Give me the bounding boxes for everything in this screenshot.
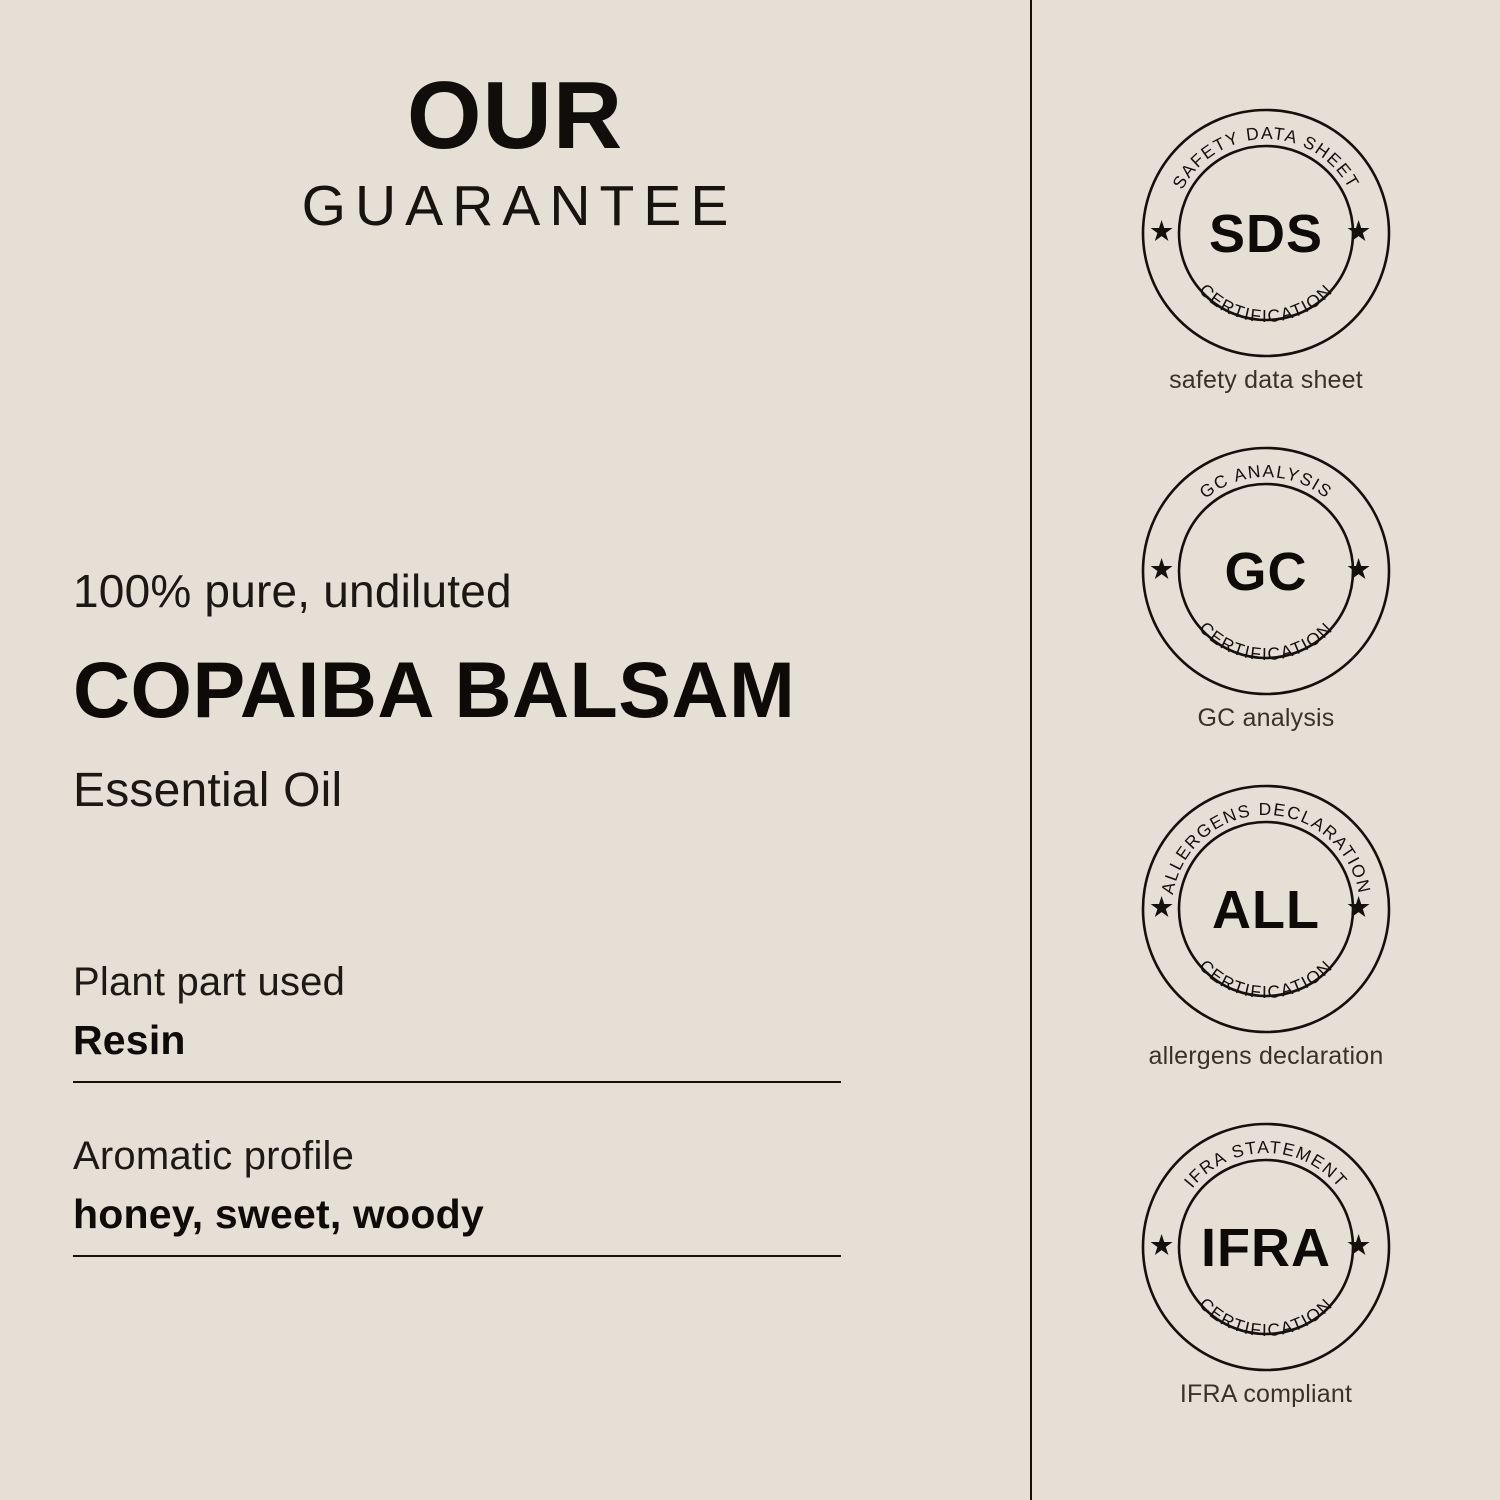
spec-label: Aromatic profile (73, 1136, 841, 1176)
spec-field-aromatic-profile: Aromatic profile honey, sweet, woody (73, 1136, 841, 1257)
spec-value: Resin (73, 1020, 841, 1061)
certification-badge-ifra: IFRA STATEMENT CERTIFICATION IFRA IFRA c… (1032, 1122, 1500, 1407)
seal-arc-bottom-text: CERTIFICATION (1195, 956, 1336, 1003)
seal-arc-bottom-label: CERTIFICATION (1195, 1294, 1336, 1341)
seal-arc-bottom-text: CERTIFICATION (1195, 280, 1336, 327)
seal-arc-bottom-label: CERTIFICATION (1195, 956, 1336, 1003)
seal-arc-top-text: GC ANALYSIS (1196, 461, 1337, 503)
seal-icon: ALLERGENS DECLARATION CERTIFICATION ALL (1141, 784, 1391, 1034)
left-content-panel: OUR GUARANTEE 100% pure, undiluted COPAI… (0, 0, 1030, 1500)
certification-caption: GC analysis (1032, 706, 1500, 731)
spec-label: Plant part used (73, 962, 841, 1002)
seal-acronym: ALL (1212, 880, 1320, 940)
spec-divider-rule (73, 1255, 841, 1257)
title-line-our: OUR (0, 68, 1030, 164)
star-icon (1348, 896, 1370, 917)
certification-caption: allergens declaration (1032, 1044, 1500, 1069)
seal-arc-bottom-text: CERTIFICATION (1195, 1294, 1336, 1341)
product-name: COPAIBA BALSAM (73, 650, 973, 729)
star-icon (1348, 220, 1370, 241)
product-purity-eyebrow: 100% pure, undiluted (73, 568, 973, 614)
star-icon (1151, 220, 1173, 241)
star-icon (1151, 558, 1173, 579)
star-icon (1151, 1234, 1173, 1255)
certification-caption: IFRA compliant (1032, 1382, 1500, 1407)
seal-arc-top-label: SAFETY DATA SHEET (1168, 123, 1363, 192)
product-guarantee-infographic: OUR GUARANTEE 100% pure, undiluted COPAI… (0, 0, 1500, 1500)
seal-acronym: GC (1225, 542, 1308, 602)
page-title: OUR GUARANTEE (0, 68, 1030, 235)
star-icon (1151, 896, 1173, 917)
seal-arc-top-text: SAFETY DATA SHEET (1168, 123, 1363, 192)
seal-arc-top-label: GC ANALYSIS (1196, 461, 1337, 503)
seal-arc-bottom-label: CERTIFICATION (1195, 618, 1336, 665)
certification-badge-sds: SAFETY DATA SHEET CERTIFICATION SDS safe… (1032, 108, 1500, 393)
certification-badge-allergens: ALLERGENS DECLARATION CERTIFICATION ALL … (1032, 784, 1500, 1069)
star-icon (1348, 1234, 1370, 1255)
product-identity-block: 100% pure, undiluted COPAIBA BALSAM Esse… (73, 568, 973, 815)
seal-acronym: IFRA (1201, 1218, 1331, 1278)
title-line-guarantee: GUARANTEE (0, 178, 1030, 235)
certification-caption: safety data sheet (1032, 368, 1500, 393)
spec-value: honey, sweet, woody (73, 1194, 841, 1235)
spec-divider-rule (73, 1081, 841, 1083)
seal-icon: IFRA STATEMENT CERTIFICATION IFRA (1141, 1122, 1391, 1372)
star-icon (1348, 558, 1370, 579)
seal-arc-bottom-text: CERTIFICATION (1195, 618, 1336, 665)
seal-acronym: SDS (1209, 204, 1323, 264)
certifications-panel: SAFETY DATA SHEET CERTIFICATION SDS safe… (1032, 0, 1500, 1500)
seal-arc-bottom-label: CERTIFICATION (1195, 280, 1336, 327)
seal-icon: SAFETY DATA SHEET CERTIFICATION SDS (1141, 108, 1391, 358)
certification-badge-gc: GC ANALYSIS CERTIFICATION GC GC analysis (1032, 446, 1500, 731)
seal-icon: GC ANALYSIS CERTIFICATION GC (1141, 446, 1391, 696)
product-type: Essential Oil (73, 767, 973, 815)
spec-field-plant-part: Plant part used Resin (73, 962, 841, 1083)
